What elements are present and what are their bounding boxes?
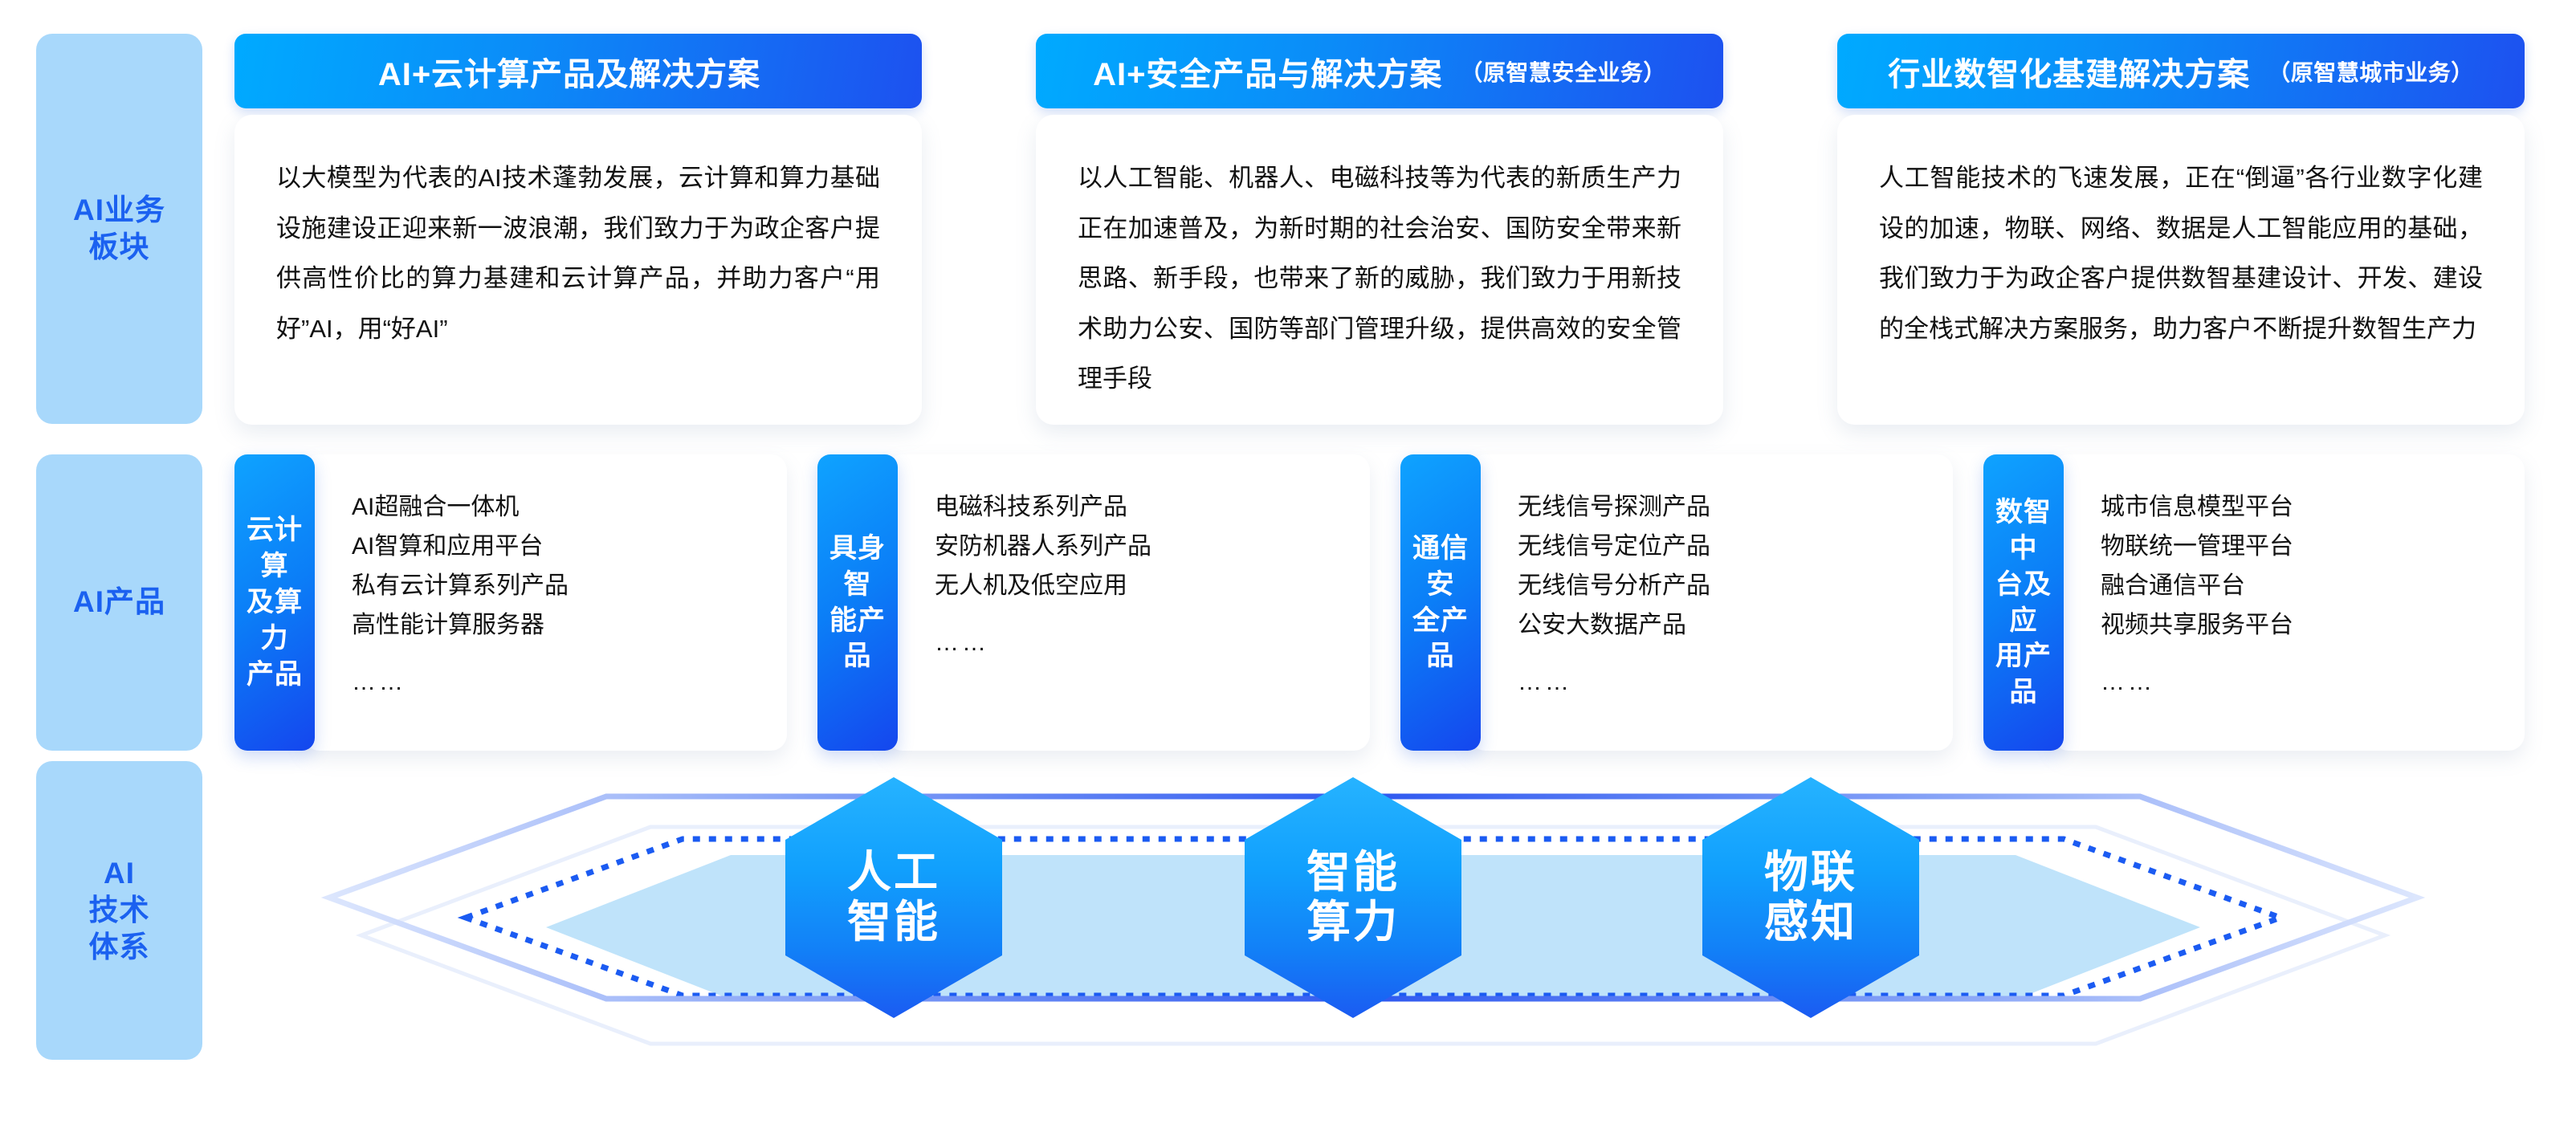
hex-compute-line2: 算力 bbox=[1306, 898, 1400, 947]
hex-compute-line1: 智能 bbox=[1306, 848, 1400, 898]
product-group-midplatform[interactable]: 数智中台及应用产品 城市信息模型平台物联统一管理平台融合通信平台视频共享服务平台… bbox=[1983, 454, 2525, 751]
product-item: 无人机及低空应用 bbox=[935, 567, 1370, 606]
product-group-embodied-tab[interactable]: 具身智能产品 bbox=[817, 454, 898, 751]
business-card-industry-text: 人工智能技术的飞速发展，正在“倒逼”各行业数字化建设的加速，物联、网络、数据是人… bbox=[1879, 153, 2483, 354]
business-card-cloud-title: AI+云计算产品及解决方案 bbox=[378, 48, 760, 95]
product-item: 公安大数据产品 bbox=[1518, 606, 1953, 645]
product-group-comm-security[interactable]: 通信安全产品 无线信号探测产品无线信号定位产品无线信号分析产品公安大数据产品…… bbox=[1400, 454, 1953, 751]
product-group-cloud[interactable]: 云计算及算力产品 AI超融合一体机AI智算和应用平台私有云计算系列产品高性能计算… bbox=[234, 454, 787, 751]
business-card-industry-header: 行业数智化基建解决方案 （原智慧城市业务） bbox=[1837, 34, 2525, 108]
product-item: 视频共享服务平台 bbox=[2101, 606, 2525, 645]
hex-ai-line1: 人工 bbox=[847, 848, 940, 898]
business-card-cloud-text: 以大模型为代表的AI技术蓬勃发展，云计算和算力基础设施建设正迎来新一波浪潮，我们… bbox=[276, 153, 880, 354]
rail-label-products: AI产品 bbox=[36, 454, 202, 751]
product-group-embodied-list: 电磁科技系列产品安防机器人系列产品无人机及低空应用…… bbox=[887, 454, 1370, 751]
product-group-cloud-list: AI超融合一体机AI智算和应用平台私有云计算系列产品高性能计算服务器…… bbox=[304, 454, 787, 751]
product-item: 电磁科技系列产品 bbox=[935, 488, 1370, 527]
product-group-midplatform-tab[interactable]: 数智中台及应用产品 bbox=[1983, 454, 2064, 751]
product-more-ellipsis: …… bbox=[1518, 663, 1953, 702]
business-card-security-subtitle: （原智慧安全业务） bbox=[1460, 55, 1666, 88]
product-group-midplatform-tab-label: 数智中台及应用产品 bbox=[1983, 495, 2064, 711]
product-group-embodied-tab-label: 具身智能产品 bbox=[817, 531, 898, 675]
business-card-security-text: 以人工智能、机器人、电磁科技等为代表的新质生产力正在加速普及，为新时期的社会治安… bbox=[1078, 153, 1681, 405]
product-item: AI超融合一体机 bbox=[352, 488, 787, 527]
product-more-ellipsis: …… bbox=[935, 624, 1370, 663]
business-card-security-title: AI+安全产品与解决方案 bbox=[1093, 48, 1442, 95]
product-item: 安防机器人系列产品 bbox=[935, 527, 1370, 567]
product-group-cloud-tab-label: 云计算及算力产品 bbox=[234, 512, 315, 692]
product-item: 无线信号定位产品 bbox=[1518, 527, 1953, 567]
business-card-cloud-header: AI+云计算产品及解决方案 bbox=[234, 34, 922, 108]
product-item: AI智算和应用平台 bbox=[352, 527, 787, 567]
product-group-comm-security-tab[interactable]: 通信安全产品 bbox=[1400, 454, 1481, 751]
rail-label-business-text: AI业务板块 bbox=[73, 192, 165, 267]
product-group-cloud-tab[interactable]: 云计算及算力产品 bbox=[234, 454, 315, 751]
product-item: 高性能计算服务器 bbox=[352, 606, 787, 645]
business-card-cloud[interactable]: AI+云计算产品及解决方案 以大模型为代表的AI技术蓬勃发展，云计算和算力基础设… bbox=[234, 34, 922, 425]
business-card-industry-subtitle: （原智慧城市业务） bbox=[2268, 55, 2474, 88]
business-card-security-body: 以人工智能、机器人、电磁科技等为代表的新质生产力正在加速普及，为新时期的社会治安… bbox=[1036, 115, 1723, 425]
product-item: 无线信号分析产品 bbox=[1518, 567, 1953, 606]
product-group-comm-security-list: 无线信号探测产品无线信号定位产品无线信号分析产品公安大数据产品…… bbox=[1469, 454, 1953, 751]
product-item: 城市信息模型平台 bbox=[2101, 488, 2525, 527]
product-item: 无线信号探测产品 bbox=[1518, 488, 1953, 527]
diagram-canvas: AI业务板块 AI产品 AI技术体系 AI+云计算产品及解决方案 以大模型为代表… bbox=[0, 0, 2576, 1124]
business-card-industry-body: 人工智能技术的飞速发展，正在“倒逼”各行业数字化建设的加速，物联、网络、数据是人… bbox=[1837, 115, 2525, 425]
rail-label-tech: AI技术体系 bbox=[36, 761, 202, 1060]
business-card-security[interactable]: AI+安全产品与解决方案 （原智慧安全业务） 以人工智能、机器人、电磁科技等为代… bbox=[1036, 34, 1723, 425]
business-card-cloud-body: 以大模型为代表的AI技术蓬勃发展，云计算和算力基础设施建设正迎来新一波浪潮，我们… bbox=[234, 115, 922, 425]
product-item: 物联统一管理平台 bbox=[2101, 527, 2525, 567]
product-group-comm-security-tab-label: 通信安全产品 bbox=[1400, 531, 1481, 675]
product-group-midplatform-list: 城市信息模型平台物联统一管理平台融合通信平台视频共享服务平台…… bbox=[2052, 454, 2525, 751]
hex-ai-line2: 智能 bbox=[847, 898, 940, 947]
hex-iot-line1: 物联 bbox=[1764, 848, 1857, 898]
business-card-security-header: AI+安全产品与解决方案 （原智慧安全业务） bbox=[1036, 34, 1723, 108]
product-more-ellipsis: …… bbox=[2101, 663, 2525, 702]
rail-label-business: AI业务板块 bbox=[36, 34, 202, 424]
tech-layer: 人工 智能 智能 算力 物联 感知 bbox=[201, 755, 2545, 1076]
rail-label-tech-text: AI技术体系 bbox=[89, 855, 150, 967]
product-item: 私有云计算系列产品 bbox=[352, 567, 787, 606]
business-card-industry[interactable]: 行业数智化基建解决方案 （原智慧城市业务） 人工智能技术的飞速发展，正在“倒逼”… bbox=[1837, 34, 2525, 425]
hex-iot-line2: 感知 bbox=[1764, 898, 1857, 947]
product-more-ellipsis: …… bbox=[352, 663, 787, 702]
product-item: 融合通信平台 bbox=[2101, 567, 2525, 606]
product-group-embodied[interactable]: 具身智能产品 电磁科技系列产品安防机器人系列产品无人机及低空应用…… bbox=[817, 454, 1370, 751]
rail-label-products-text: AI产品 bbox=[73, 584, 165, 621]
business-card-industry-title: 行业数智化基建解决方案 bbox=[1888, 48, 2250, 95]
